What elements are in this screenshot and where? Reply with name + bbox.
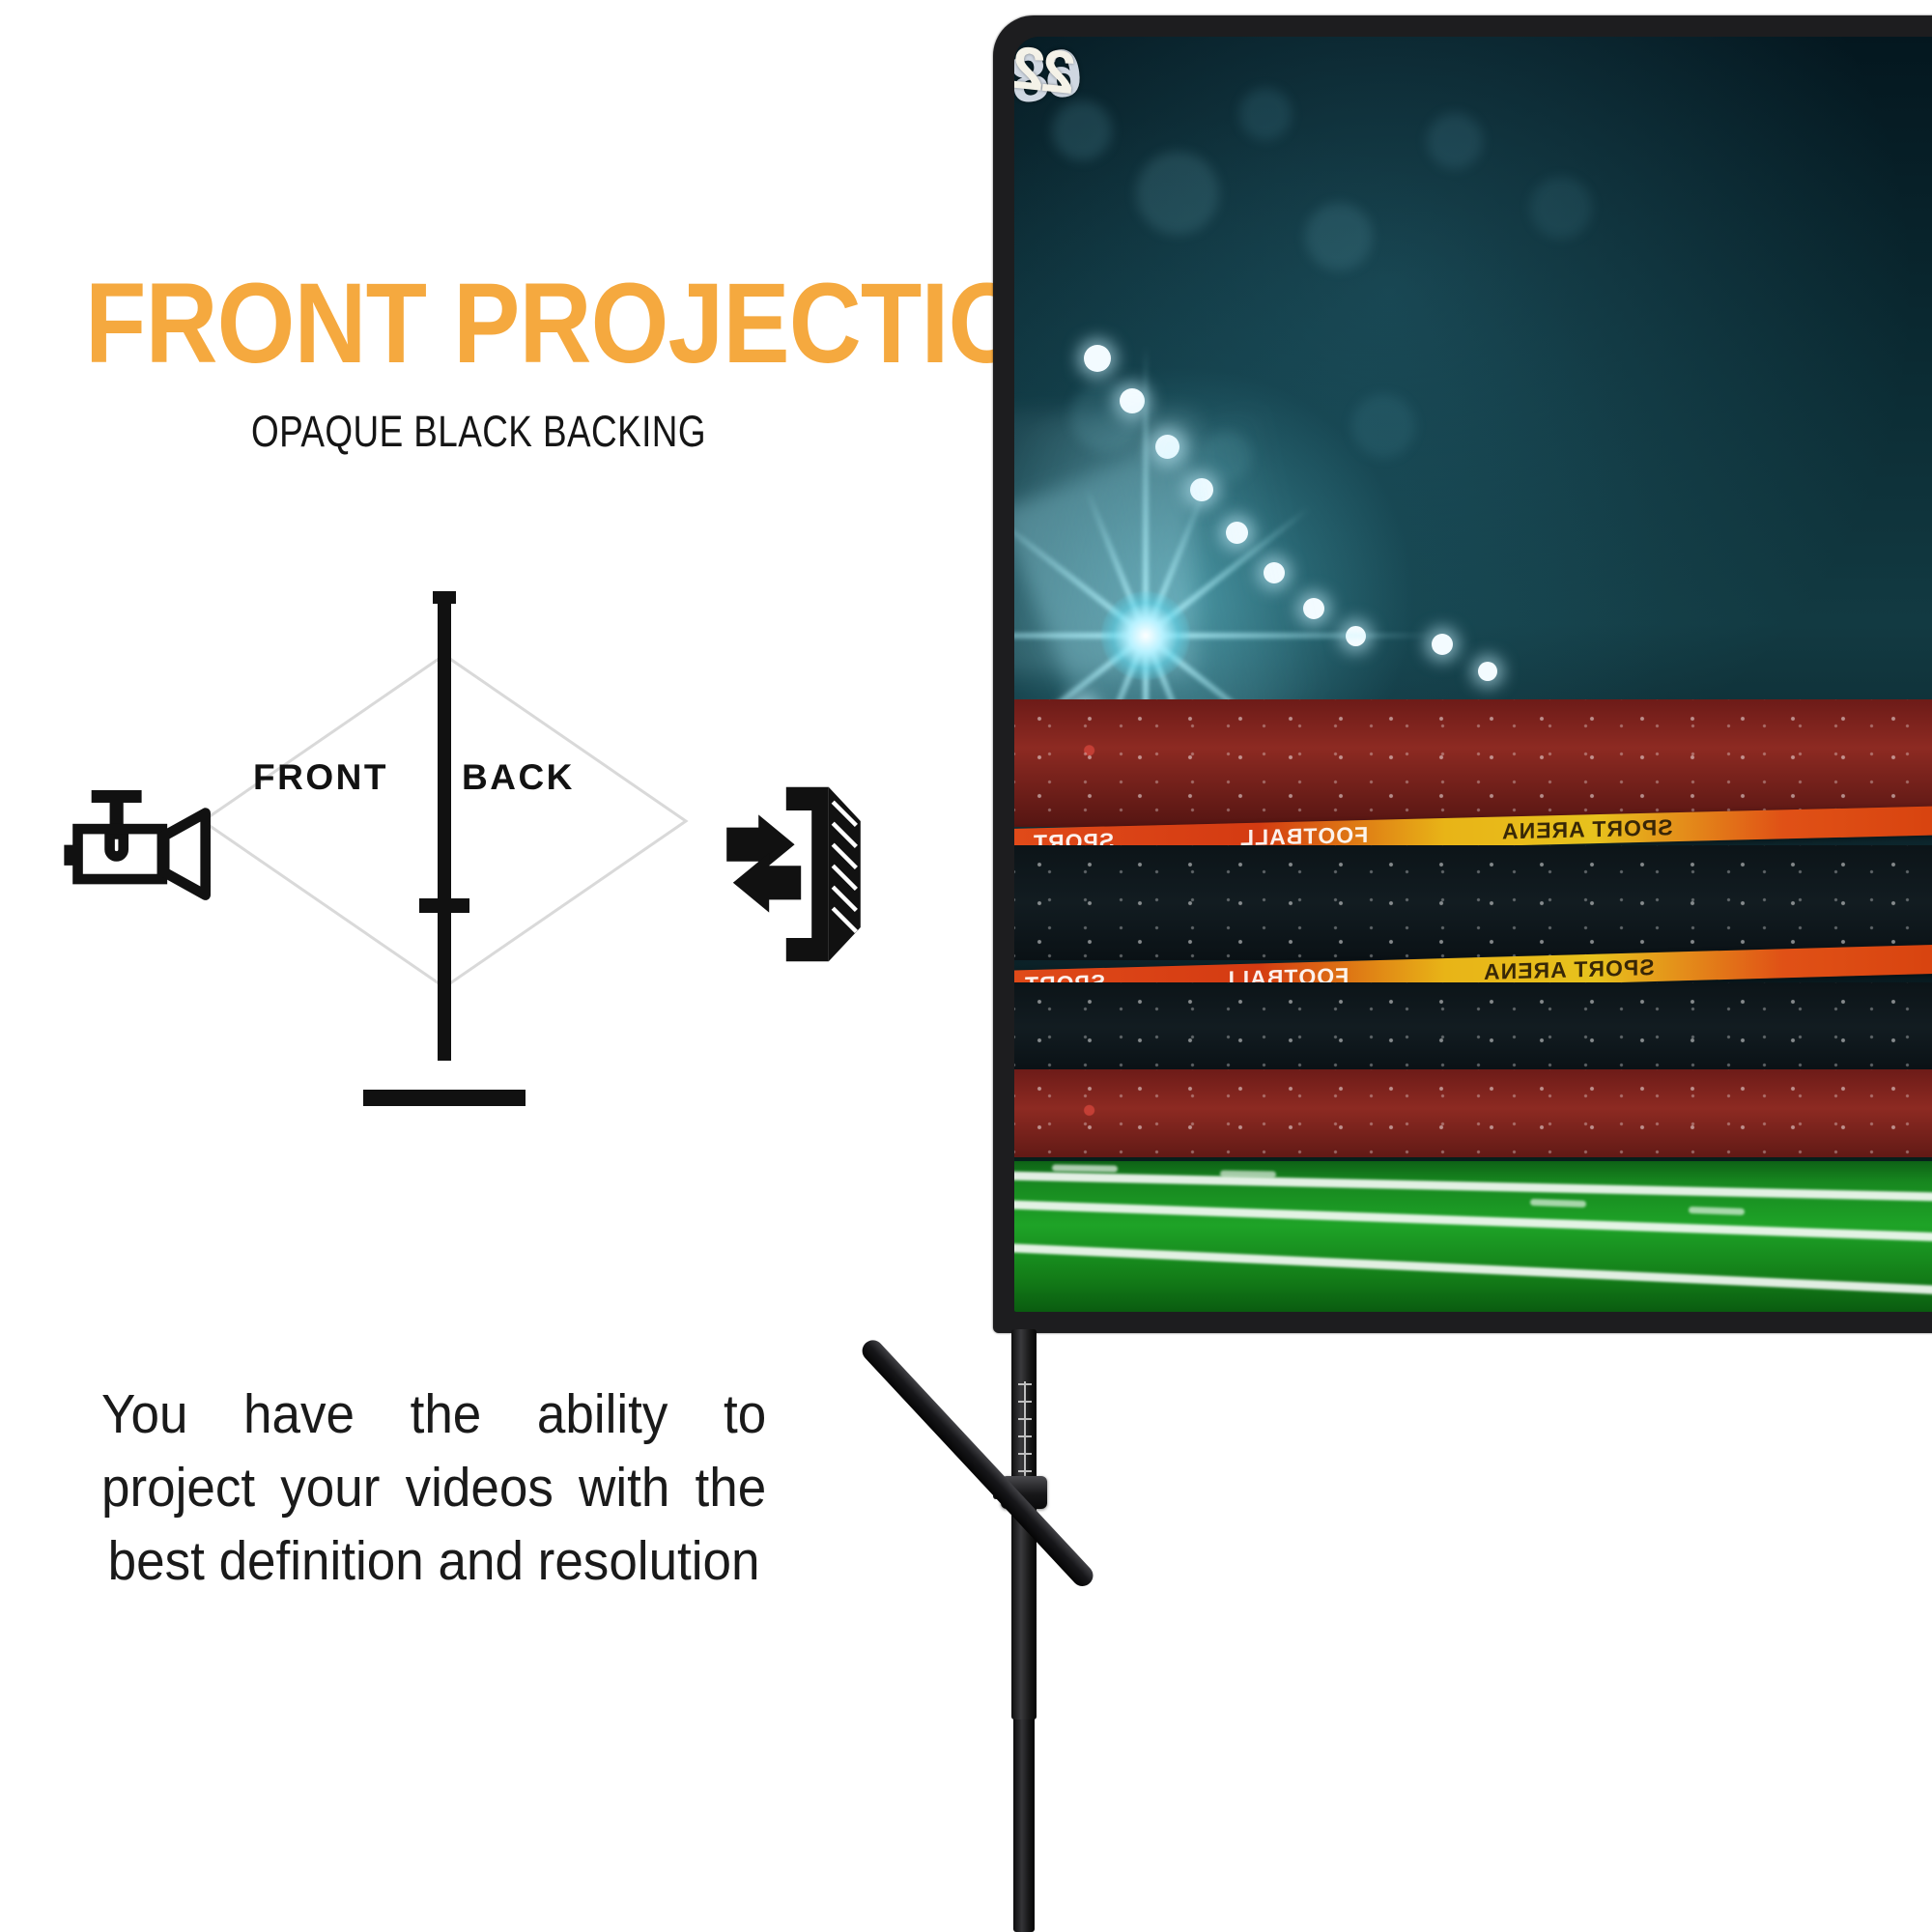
- projector-icon: [64, 790, 205, 895]
- yard-line: [1014, 1241, 1932, 1297]
- yard-line: [1014, 1171, 1932, 1204]
- diagram-label-back: BACK: [462, 757, 575, 798]
- screen-surface: FOOTBALL SPORT ARENA SPORT FOOTBALL SPOR…: [1014, 37, 1932, 1312]
- front-projection-diagram: FRONT BACK: [39, 541, 985, 1217]
- stadium-light: [1120, 388, 1145, 413]
- yard-hash: [1220, 1170, 1276, 1178]
- diagram-svg: [39, 541, 985, 1217]
- diagram-label-front: FRONT: [253, 757, 388, 798]
- body-paragraph: You have the ability to project your vid…: [101, 1378, 766, 1598]
- page-title: FRONT PROJECTION: [85, 267, 1096, 381]
- blocked-light-arrow-icon: [726, 787, 861, 961]
- bokeh-circle: [1136, 152, 1219, 235]
- player-jersey-number: 22: [1014, 37, 1079, 108]
- screen-frame: FOOTBALL SPORT ARENA SPORT FOOTBALL SPOR…: [993, 15, 1932, 1333]
- left-info-panel: FRONT PROJECTION OPAQUE BLACK BACKING: [0, 0, 1024, 1932]
- ad-text-sport-arena: SPORT ARENA: [1483, 954, 1655, 985]
- ad-text-sport-arena: SPORT ARENA: [1501, 814, 1673, 844]
- bokeh-circle: [1239, 88, 1292, 140]
- crowd-speckle: [1014, 699, 1932, 827]
- bokeh-circle: [1305, 203, 1373, 270]
- page-subtitle: OPAQUE BLACK BACKING: [251, 410, 706, 453]
- endzone-signage: VIRGA TOWN VIRGA TOWN VIRGA TOWN VIRGA T…: [1014, 1157, 1932, 1161]
- crowd-speckle: [1014, 845, 1932, 960]
- crowd-speckle: [1014, 982, 1932, 1071]
- yard-hash: [1689, 1207, 1745, 1215]
- yard-hash: [1529, 1199, 1585, 1207]
- portable-projection-screen: FOOTBALL SPORT ARENA SPORT FOOTBALL SPOR…: [993, 0, 1932, 1932]
- stadium-light: [1478, 662, 1497, 681]
- yard-hash: [1052, 1164, 1118, 1172]
- height-scale-marks: [1018, 1381, 1032, 1486]
- crowd-speckle: [1014, 1069, 1932, 1172]
- screen-pole: [363, 591, 526, 1106]
- yard-line: [1014, 1199, 1932, 1244]
- bokeh-circle: [1427, 113, 1483, 169]
- bokeh-circle: [1530, 177, 1592, 239]
- football-field: VIRGA TOWN VIRGA TOWN VIRGA TOWN VIRGA T…: [1014, 1157, 1932, 1312]
